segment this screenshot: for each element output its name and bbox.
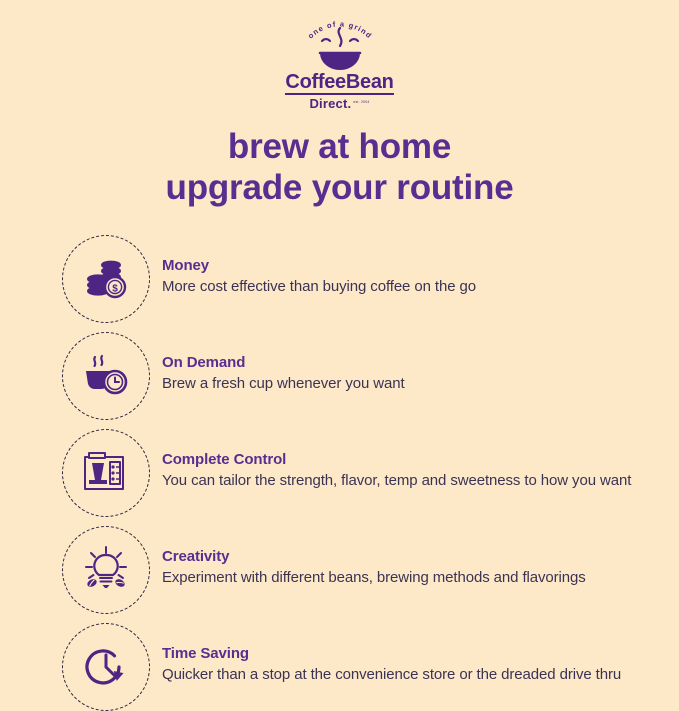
coffee-cup-clock-icon bbox=[62, 332, 150, 420]
logo-wordmark: CoffeeBean Direct. est. 2004 bbox=[285, 72, 393, 110]
list-item: $ Money More cost effective than buying … bbox=[62, 235, 639, 323]
benefit-description: More cost effective than buying coffee o… bbox=[162, 277, 632, 297]
lightbulb-beans-icon bbox=[62, 526, 150, 614]
benefit-title: Complete Control bbox=[162, 451, 639, 469]
list-item: Complete Control You can tailor the stre… bbox=[62, 429, 639, 517]
coffee-cup-smile-icon: one of a grind bbox=[280, 8, 400, 74]
list-item: Time Saving Quicker than a stop at the c… bbox=[62, 623, 639, 711]
benefit-title: Time Saving bbox=[162, 645, 639, 663]
logo-established: est. 2004 bbox=[353, 101, 369, 105]
svg-text:$: $ bbox=[112, 283, 118, 294]
brand-logo: one of a grind CoffeeBean Direct. est. 2… bbox=[0, 0, 679, 110]
logo-name-main: CoffeeBean bbox=[285, 72, 393, 95]
benefit-title: On Demand bbox=[162, 354, 639, 372]
logo-name-sub: Direct. bbox=[309, 97, 351, 110]
benefit-description: Quicker than a stop at the convenience s… bbox=[162, 665, 632, 685]
benefit-description: You can tailor the strength, flavor, tem… bbox=[162, 471, 632, 491]
page-title: brew at home upgrade your routine bbox=[0, 126, 679, 209]
benefit-description: Brew a fresh cup whenever you want bbox=[162, 374, 632, 394]
page-title-line-1: brew at home bbox=[0, 126, 679, 167]
list-item: On Demand Brew a fresh cup whenever you … bbox=[62, 332, 639, 420]
coffee-brewer-icon bbox=[62, 429, 150, 517]
benefit-description: Experiment with different beans, brewing… bbox=[162, 568, 632, 588]
page-title-line-2: upgrade your routine bbox=[0, 167, 679, 208]
clock-arrow-icon bbox=[62, 623, 150, 711]
money-coins-icon: $ bbox=[62, 235, 150, 323]
list-item: Creativity Experiment with different bea… bbox=[62, 526, 639, 614]
infographic-page: one of a grind CoffeeBean Direct. est. 2… bbox=[0, 0, 679, 679]
benefit-title: Money bbox=[162, 257, 639, 275]
benefit-title: Creativity bbox=[162, 548, 639, 566]
benefit-list: $ Money More cost effective than buying … bbox=[0, 235, 679, 711]
